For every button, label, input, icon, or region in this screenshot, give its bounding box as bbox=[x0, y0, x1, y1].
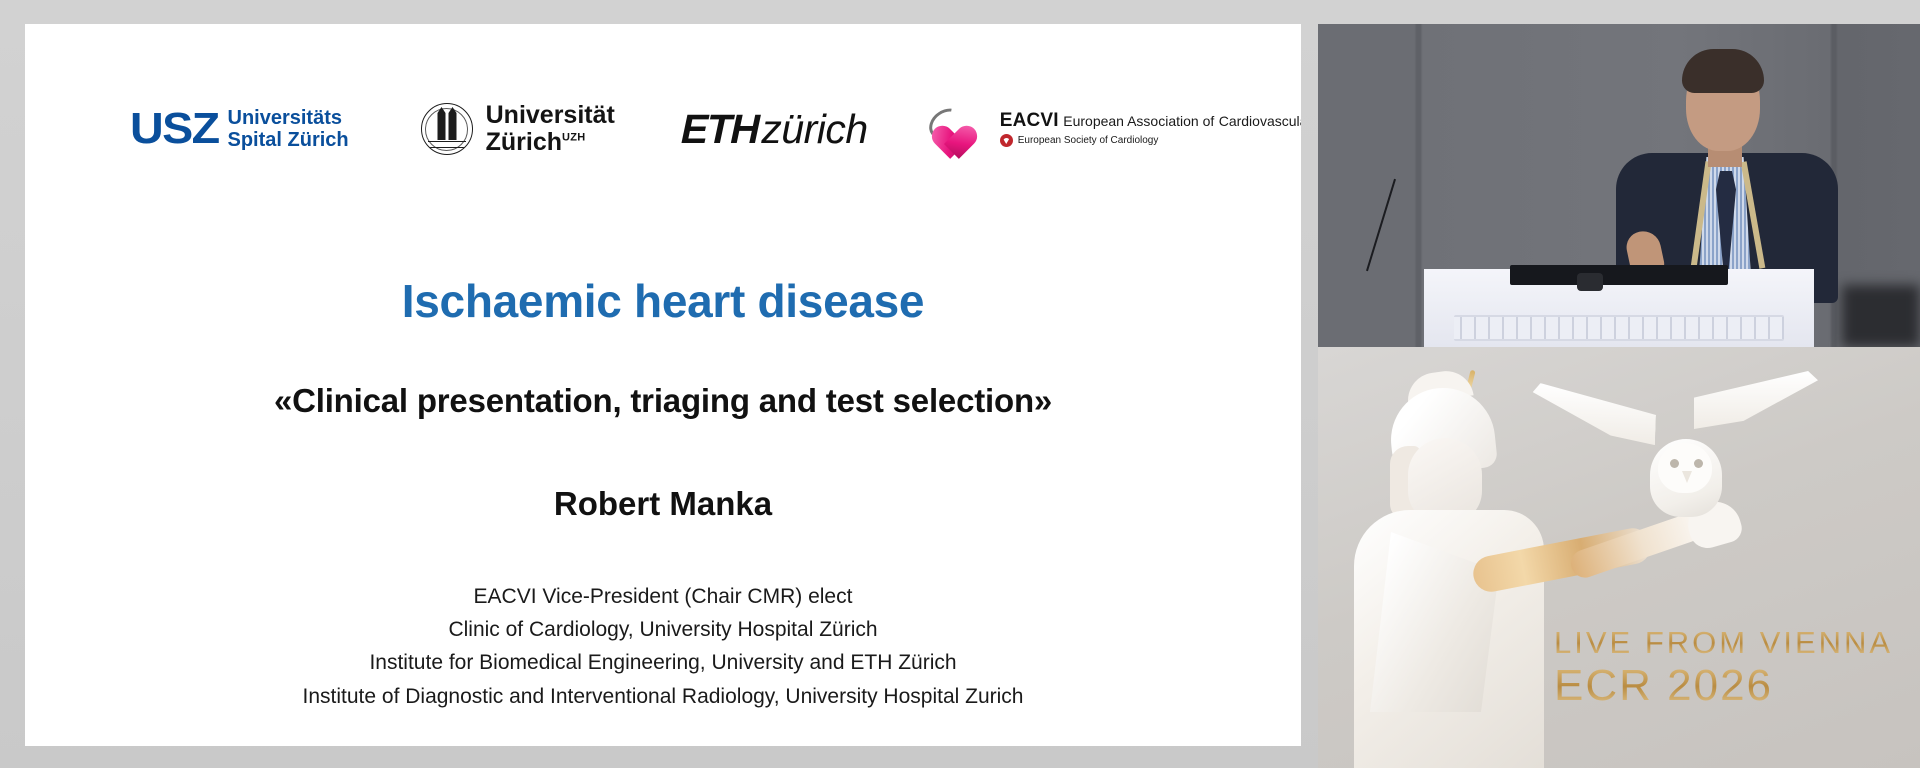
eacvi-subtitle-line2: Cardiovascular Imaging bbox=[1219, 113, 1301, 129]
presentation-slide: USZ Universitäts Spital Zürich Un bbox=[25, 24, 1301, 746]
speaker-figure bbox=[1590, 49, 1880, 299]
usz-logo-text: Universitäts Spital Zürich bbox=[228, 107, 349, 152]
owl-beak bbox=[1682, 471, 1692, 483]
owl-eye-right bbox=[1694, 459, 1703, 468]
owl-wing-right bbox=[1694, 371, 1818, 429]
ecr-event-name-text: ECR 2026 bbox=[1554, 661, 1773, 710]
eacvi-subtitle-line1: European Association of bbox=[1063, 113, 1214, 129]
usz-logo-line2: Spital Zürich bbox=[228, 129, 349, 151]
esc-endorsement: European Society of Cardiology bbox=[1000, 134, 1301, 147]
uzh-logo-text: Universität ZürichUZH bbox=[486, 102, 615, 157]
usz-logo-line1: Universitäts bbox=[228, 107, 343, 129]
owl-face bbox=[1658, 443, 1712, 493]
presenter-affiliations: EACVI Vice-President (Chair CMR) elect C… bbox=[25, 580, 1301, 713]
presenter-name: Robert Manka bbox=[25, 485, 1301, 523]
slide-title: Ischaemic heart disease bbox=[25, 274, 1301, 328]
affiliation-line: Institute for Biomedical Engineering, Un… bbox=[25, 646, 1301, 679]
lectern-webcam-icon bbox=[1577, 273, 1603, 291]
eth-wordmark-bold: ETH bbox=[680, 106, 758, 153]
ecr-promo-panel[interactable]: LIVE FROM VIENNA ECR 2026 bbox=[1318, 347, 1920, 768]
lectern-frieze-ornament bbox=[1454, 315, 1784, 341]
ecr-live-from-vienna-text: LIVE FROM VIENNA bbox=[1554, 625, 1893, 660]
esc-heart-badge-icon bbox=[1000, 134, 1013, 147]
uzh-logo-superscript: UZH bbox=[562, 132, 586, 144]
uzh-logo-line1: Universität bbox=[486, 101, 615, 129]
eth-wordmark-light: zürich bbox=[761, 106, 867, 153]
eacvi-logo: EACVI European Association of Cardiovasc… bbox=[928, 103, 1301, 155]
esc-society-text: European Society of Cardiology bbox=[1018, 135, 1159, 146]
uzh-logo-line2: Zürich bbox=[486, 128, 562, 156]
ecr-caption-block: LIVE FROM VIENNA ECR 2026 bbox=[1554, 624, 1920, 710]
usz-wordmark-icon: USZ bbox=[130, 107, 219, 151]
eacvi-title: EACVI bbox=[1000, 110, 1059, 131]
owl-eye-left bbox=[1670, 459, 1679, 468]
uzh-seal-icon bbox=[421, 103, 473, 155]
speaker-hair bbox=[1682, 49, 1764, 93]
lectern-monitor bbox=[1510, 265, 1728, 285]
usz-logo: USZ Universitäts Spital Zürich bbox=[130, 107, 349, 152]
screen-root: USZ Universitäts Spital Zürich Un bbox=[0, 0, 1920, 768]
affiliation-line: Institute of Diagnostic and Intervention… bbox=[25, 680, 1301, 713]
uzh-logo: Universität ZürichUZH bbox=[421, 102, 615, 157]
slide-subtitle: «Clinical presentation, triaging and tes… bbox=[25, 382, 1301, 420]
right-video-column: LIVE FROM VIENNA ECR 2026 bbox=[1318, 24, 1920, 768]
affiliation-line: EACVI Vice-President (Chair CMR) elect bbox=[25, 580, 1301, 613]
speaker-video-feed[interactable] bbox=[1318, 24, 1920, 347]
eacvi-logo-text: EACVI European Association of Cardiovasc… bbox=[1000, 111, 1301, 148]
institution-logo-bar: USZ Universitäts Spital Zürich Un bbox=[25, 84, 1301, 174]
affiliation-line: Clinic of Cardiology, University Hospita… bbox=[25, 613, 1301, 646]
eth-logo: ETH zürich bbox=[681, 106, 868, 153]
eacvi-heart-icon bbox=[928, 103, 990, 155]
